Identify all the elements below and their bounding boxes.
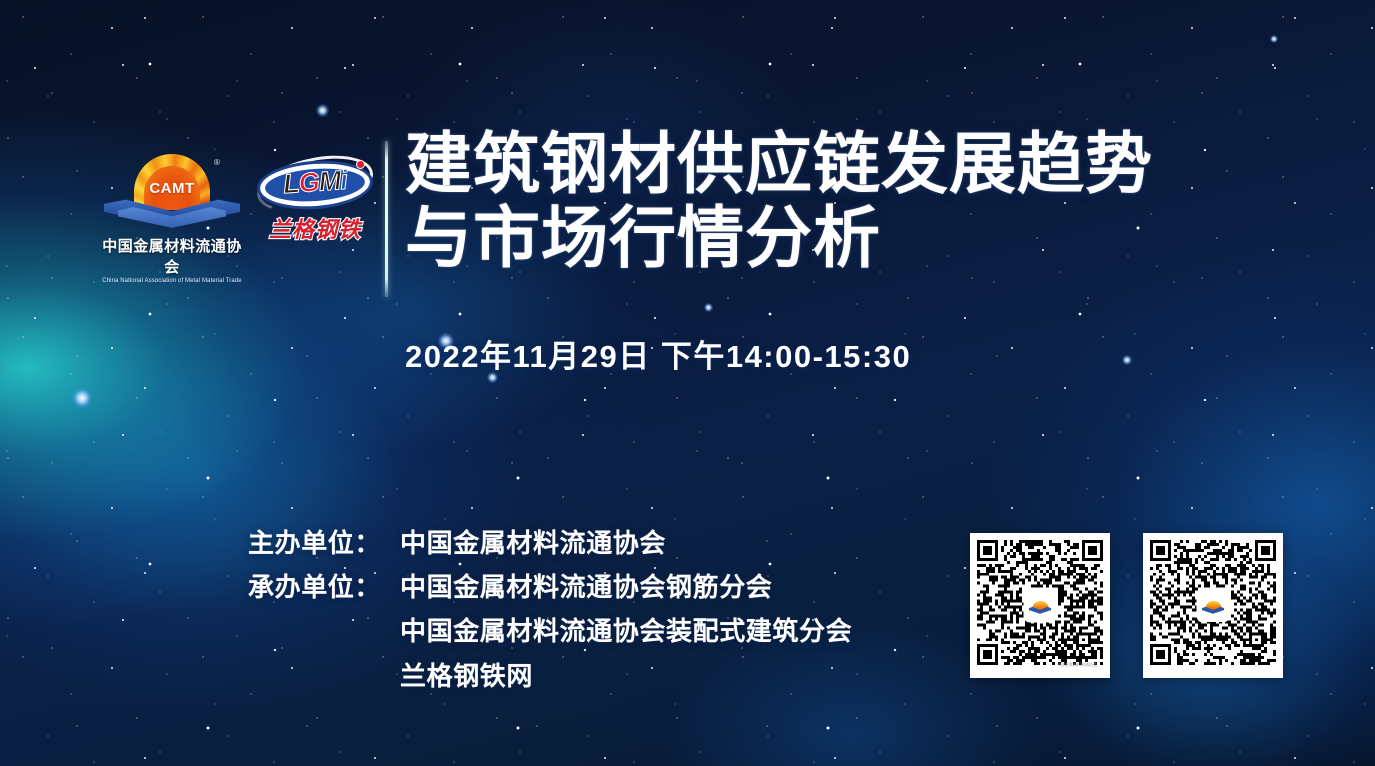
organizer-row: 主办单位： 中国金属材料流通协会: [248, 521, 948, 565]
lgmi-dot-icon: [356, 160, 365, 169]
qr-center-logo-icon: [1198, 591, 1228, 621]
title-divider: [385, 141, 388, 297]
organizer-label: 主办单位：: [248, 521, 400, 565]
lgmi-name-cn: 兰格钢铁: [256, 212, 374, 244]
logo-row: CAMT ® 中国金属材料流通协会 China National Associa…: [96, 152, 374, 284]
organizer-value: 中国金属材料流通协会: [400, 521, 666, 565]
qr-code-left-image: 中国金属材料流通协会: [977, 540, 1103, 671]
page-title: 建筑钢材供应链发展趋势 与市场行情分析: [405, 128, 1225, 275]
lgmi-letter-i: i: [339, 165, 348, 195]
lgmi-logo: LGMi 兰格钢铁: [256, 156, 374, 244]
qr-code-right[interactable]: [1143, 533, 1283, 678]
qr-code-right-image: [1150, 540, 1276, 671]
organizer-row: 兰格钢铁网: [248, 654, 948, 698]
event-datetime: 2022年11月29日 下午14:00-15:30: [405, 331, 911, 376]
organizer-row: 承办单位： 中国金属材料流通协会钢筋分会: [248, 565, 948, 609]
camt-name-en: China National Association of Metal Mate…: [96, 278, 248, 284]
organizer-row: 中国金属材料流通协会装配式建筑分会: [248, 609, 948, 653]
lgmi-letter-g: G: [298, 167, 320, 198]
lgmi-emblem-icon: LGMi: [256, 156, 374, 214]
camt-acronym: CAMT: [134, 180, 210, 197]
lgmi-letter-m: M: [318, 165, 342, 196]
title-line-1: 建筑钢材供应链发展趋势: [405, 128, 1225, 202]
camt-logo: CAMT ® 中国金属材料流通协会 China National Associa…: [96, 152, 248, 284]
qr-caption: 中国金属材料流通协会: [1057, 662, 1097, 668]
organizer-value: 兰格钢铁网: [400, 654, 533, 698]
qr-code-left[interactable]: 中国金属材料流通协会: [970, 533, 1110, 678]
organizer-value: 中国金属材料流通协会钢筋分会: [400, 565, 772, 609]
organizer-list: 主办单位： 中国金属材料流通协会 承办单位： 中国金属材料流通协会钢筋分会 中国…: [248, 521, 948, 698]
organizer-value: 中国金属材料流通协会装配式建筑分会: [400, 609, 852, 653]
organizer-label: 承办单位：: [248, 565, 400, 609]
camt-emblem-icon: CAMT ®: [96, 152, 248, 234]
title-line-2: 与市场行情分析: [405, 202, 1225, 276]
registered-trademark-icon: ®: [214, 158, 220, 167]
qr-center-logo-icon: [1025, 591, 1055, 621]
poster-root: CAMT ® 中国金属材料流通协会 China National Associa…: [0, 0, 1375, 766]
camt-name-cn: 中国金属材料流通协会: [96, 235, 248, 277]
